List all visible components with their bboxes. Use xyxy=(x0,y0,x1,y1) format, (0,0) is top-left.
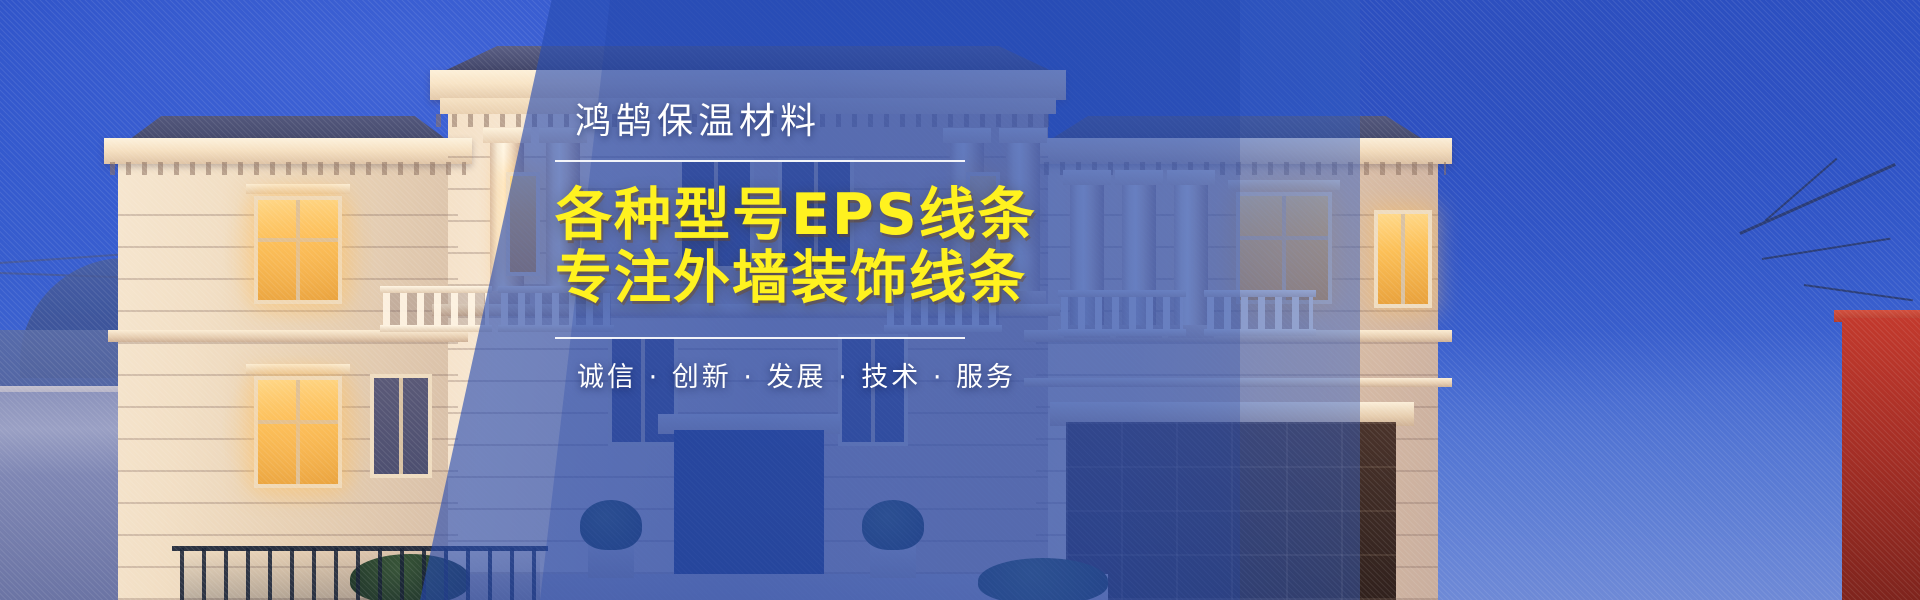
promo-banner: 鸿鹄保温材料 各种型号EPS线条 专注外墙装饰线条 诚信 · 创新 · 发展 ·… xyxy=(0,0,1920,600)
brand-name: 鸿鹄保温材料 xyxy=(575,98,1255,147)
banner-content: 鸿鹄保温材料 各种型号EPS线条 专注外墙装饰线条 诚信 · 创新 · 发展 ·… xyxy=(0,0,1920,600)
headline-line-2: 专注外墙装饰线条 xyxy=(555,247,1255,311)
text-block: 鸿鹄保温材料 各种型号EPS线条 专注外墙装饰线条 诚信 · 创新 · 发展 ·… xyxy=(555,98,1255,397)
divider-top xyxy=(555,160,965,162)
divider-bottom xyxy=(555,337,965,339)
tagline: 诚信 · 创新 · 发展 · 技术 · 服务 xyxy=(577,359,1255,397)
headline-line-1: 各种型号EPS线条 xyxy=(555,184,1255,248)
